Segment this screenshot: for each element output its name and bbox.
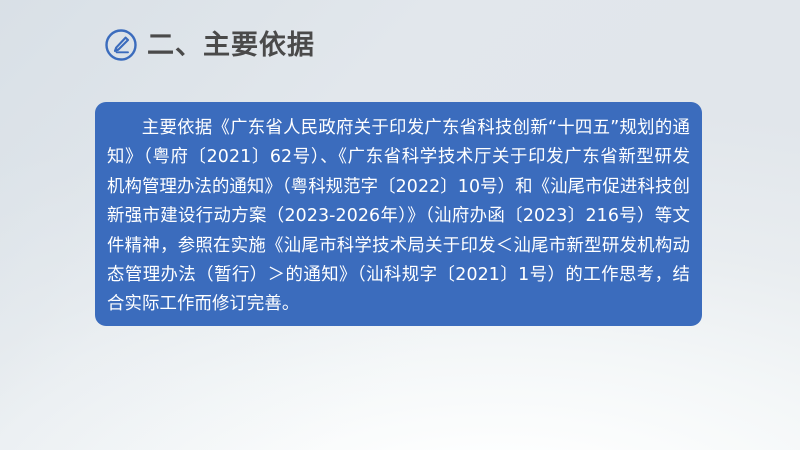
slide-canvas: 二、主要依据 主要依据《广东省人民政府关于印发广东省科技创新“十四五”规划的通知…	[0, 0, 800, 450]
content-paragraph: 主要依据《广东省人民政府关于印发广东省科技创新“十四五”规划的通知》（粤府〔20…	[107, 114, 690, 320]
pencil-in-circle-icon	[104, 28, 138, 62]
content-callout-box: 主要依据《广东省人民政府关于印发广东省科技创新“十四五”规划的通知》（粤府〔20…	[95, 102, 702, 326]
slide-title-row: 二、主要依据	[104, 28, 315, 62]
page-title: 二、主要依据	[147, 32, 315, 59]
